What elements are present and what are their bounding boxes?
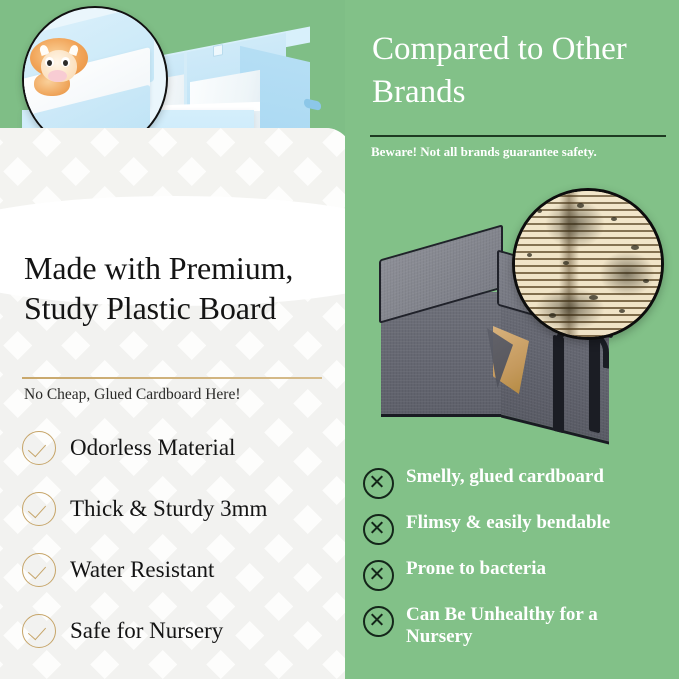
list-item: Odorless Material xyxy=(22,424,342,472)
check-circle-icon xyxy=(22,553,56,587)
x-circle-icon xyxy=(363,514,394,545)
check-circle-icon xyxy=(22,614,56,648)
comparison-infographic: Made with Premium, Study Plastic Board N… xyxy=(0,0,679,679)
list-item: Smelly, glued cardboard xyxy=(363,466,679,499)
feature-label: Thick & Sturdy 3mm xyxy=(70,496,267,522)
dark-green-divider xyxy=(370,135,666,137)
drawback-label: Can Be Unhealthy for a Nursery xyxy=(406,604,634,649)
mold-smear xyxy=(545,199,605,249)
list-item: Safe for Nursery xyxy=(22,607,342,655)
feature-label: Odorless Material xyxy=(70,435,235,461)
mold-spot xyxy=(563,261,569,265)
bin-strap xyxy=(589,335,600,434)
mold-spot xyxy=(549,313,556,318)
mold-spot xyxy=(589,295,598,300)
list-item: Flimsy & easily bendable xyxy=(363,512,679,545)
mold-smear xyxy=(535,287,605,331)
list-item: Prone to bacteria xyxy=(363,558,679,591)
mold-spot xyxy=(527,253,532,257)
left-heading: Made with Premium, Study Plastic Board xyxy=(24,248,334,329)
drawback-label: Flimsy & easily bendable xyxy=(406,512,610,534)
right-heading: Compared to Other Brands xyxy=(372,28,672,114)
x-circle-icon xyxy=(363,468,394,499)
feature-list: Odorless Material Thick & Sturdy 3mm Wat… xyxy=(22,424,342,668)
mold-spot xyxy=(537,209,542,213)
check-circle-icon xyxy=(22,431,56,465)
right-panel-competitors: Compared to Other Brands Beware! Not all… xyxy=(345,0,679,679)
mold-spot xyxy=(611,217,617,221)
left-subheading: No Cheap, Glued Cardboard Here! xyxy=(24,386,334,404)
box-clip xyxy=(213,44,223,57)
x-circle-icon xyxy=(363,606,394,637)
mold-spot xyxy=(619,309,625,313)
feature-label: Safe for Nursery xyxy=(70,618,223,644)
bin-strap xyxy=(553,335,564,434)
mold-spot xyxy=(631,245,639,250)
check-circle-icon xyxy=(22,492,56,526)
mold-spot xyxy=(577,203,584,208)
list-item: Water Resistant xyxy=(22,546,342,594)
drawback-label: Prone to bacteria xyxy=(406,558,546,580)
x-circle-icon xyxy=(363,560,394,591)
drawback-list: Smelly, glued cardboard Flimsy & easily … xyxy=(363,466,679,662)
list-item: Thick & Sturdy 3mm xyxy=(22,485,342,533)
mold-smear xyxy=(599,251,655,297)
left-panel-premium: Made with Premium, Study Plastic Board N… xyxy=(0,0,345,679)
list-item: Can Be Unhealthy for a Nursery xyxy=(363,604,679,649)
drawback-label: Smelly, glued cardboard xyxy=(406,466,604,488)
gold-divider xyxy=(22,377,322,379)
right-subheading: Beware! Not all brands guarantee safety. xyxy=(371,144,671,160)
mold-spot xyxy=(643,279,649,283)
feature-label: Water Resistant xyxy=(70,557,214,583)
magnified-triceratops-print xyxy=(30,38,92,96)
magnifier-moldy-cardboard xyxy=(512,188,664,340)
